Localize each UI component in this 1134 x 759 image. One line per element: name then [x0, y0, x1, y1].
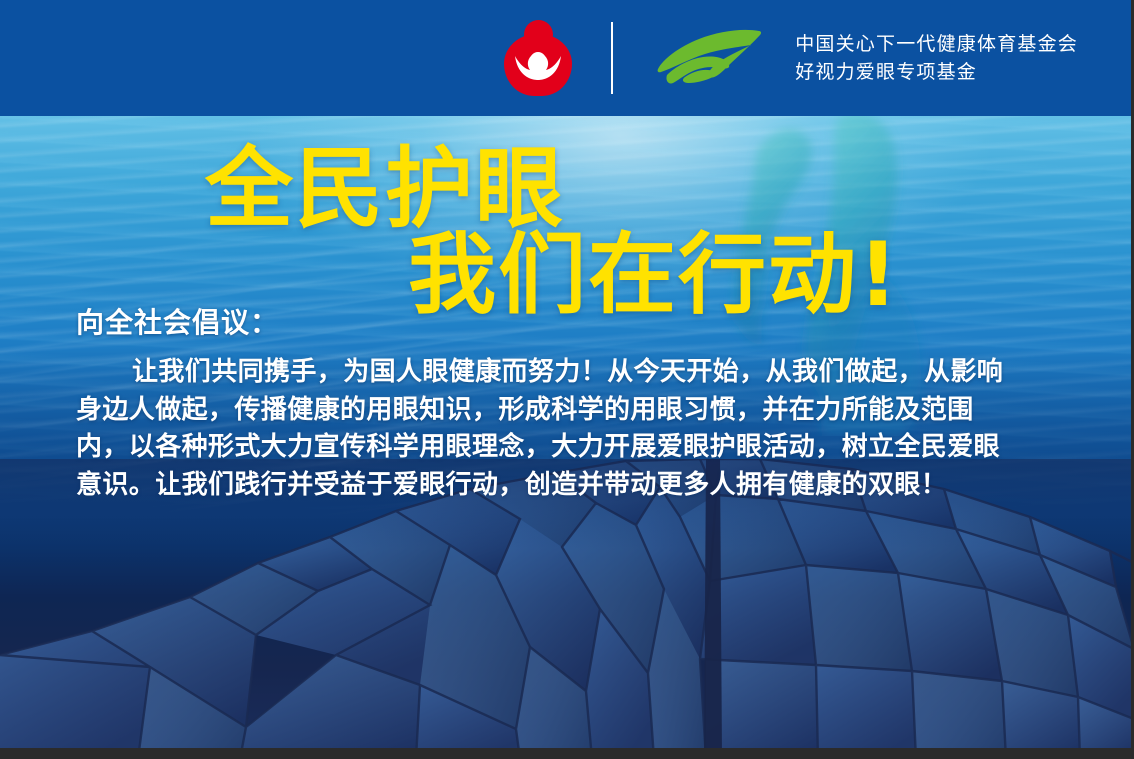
copy-paragraph-3: 内，以各种形式大力宣传科学用眼理念，大力开展爱眼护眼活动，树立全民爱眼 — [76, 429, 1076, 467]
copy-heading: 向全社会倡议： — [76, 306, 1076, 340]
header-divider — [611, 22, 613, 94]
copy-paragraph-4: 意识。让我们践行并受益于爱眼行动，创造并带动更多人拥有健康的双眼！ — [76, 467, 1076, 505]
copy-paragraph-2: 身边人做起，传播健康的用眼知识，形成科学的用眼习惯，并在力所能及范围 — [76, 392, 1076, 430]
caring-for-next-generation-logo-icon — [501, 20, 575, 96]
bottom-edge-border — [0, 748, 1134, 759]
org-name-secondary: 好视力爱眼专项基金 — [795, 61, 1078, 83]
poster-root: 中国关心下一代健康体育基金会 好视力爱眼专项基金 全民护眼 我们在行动! 向全社… — [0, 0, 1134, 759]
header-content: 中国关心下一代健康体育基金会 好视力爱眼专项基金 — [501, 0, 1078, 116]
water-cube-structure — [0, 459, 1134, 759]
copy-body: 让我们共同携手，为国人眼健康而努力！从今天开始，从我们做起，从影响 身边人做起，… — [76, 354, 1076, 504]
org-name-primary: 中国关心下一代健康体育基金会 — [795, 33, 1078, 55]
organization-names: 中国关心下一代健康体育基金会 好视力爱眼专项基金 — [795, 33, 1078, 83]
proposal-copy: 向全社会倡议： 让我们共同携手，为国人眼健康而努力！从今天开始，从我们做起，从影… — [76, 306, 1076, 504]
copy-paragraph-1: 让我们共同携手，为国人眼健康而努力！从今天开始，从我们做起，从影响 — [76, 354, 1076, 392]
header-bar: 中国关心下一代健康体育基金会 好视力爱眼专项基金 — [0, 0, 1134, 116]
eye-leaf-logo-icon — [655, 25, 763, 91]
logo-inner-figure — [501, 20, 575, 96]
